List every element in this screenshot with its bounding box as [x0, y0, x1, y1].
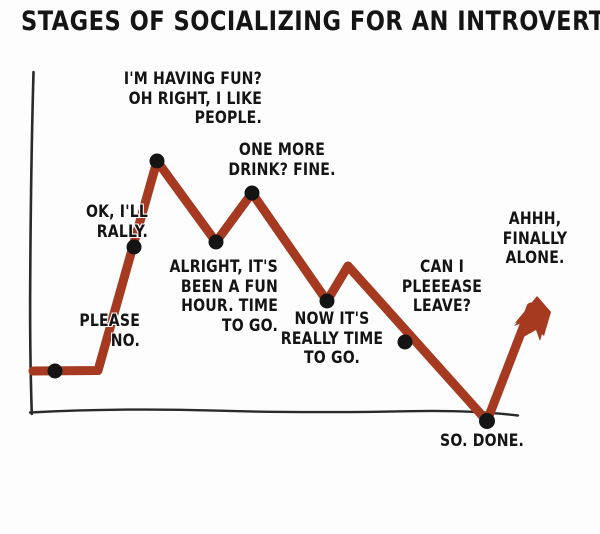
- annotation-now-its-really-time: NOW IT'S REALLY TIME TO GO.: [277, 310, 387, 369]
- annotation-can-i-please-leave: CAN I PLEEEASE LEAVE?: [398, 258, 486, 317]
- stage-dot-im-having-fun: [150, 154, 165, 169]
- stage-dot-can-i-please-leave: [398, 335, 413, 350]
- stage-dot-alright-fun-hour: [209, 235, 224, 250]
- annotation-one-more-drink: ONE MORE DRINK? FINE.: [218, 141, 347, 180]
- stage-dot-now-its-really-time: [320, 294, 335, 309]
- annotation-please-no: PLEASE NO.: [39, 312, 140, 351]
- annotation-so-done: SO. DONE.: [440, 432, 550, 452]
- annotation-ahhh-finally-alone: AHHH, FINALLY ALONE.: [494, 210, 577, 269]
- comic-chart: STAGES OF SOCIALIZING FOR AN INTROVERT P…: [0, 0, 600, 534]
- annotation-ok-ill-rally: OK, I'LL RALLY.: [56, 203, 148, 242]
- annotation-im-having-fun: I'M HAVING FUN? OH RIGHT, I LIKE PEOPLE.: [78, 70, 262, 129]
- y-axis-line: [30, 72, 33, 414]
- stage-dot-please-no: [48, 364, 63, 379]
- annotation-alright-fun-hour: ALRIGHT, IT'S BEEN A FUN HOUR. TIME TO G…: [158, 258, 278, 336]
- x-axis-line: [30, 410, 518, 416]
- stage-dot-so-done: [479, 413, 495, 429]
- stage-dot-one-more-drink: [245, 186, 260, 201]
